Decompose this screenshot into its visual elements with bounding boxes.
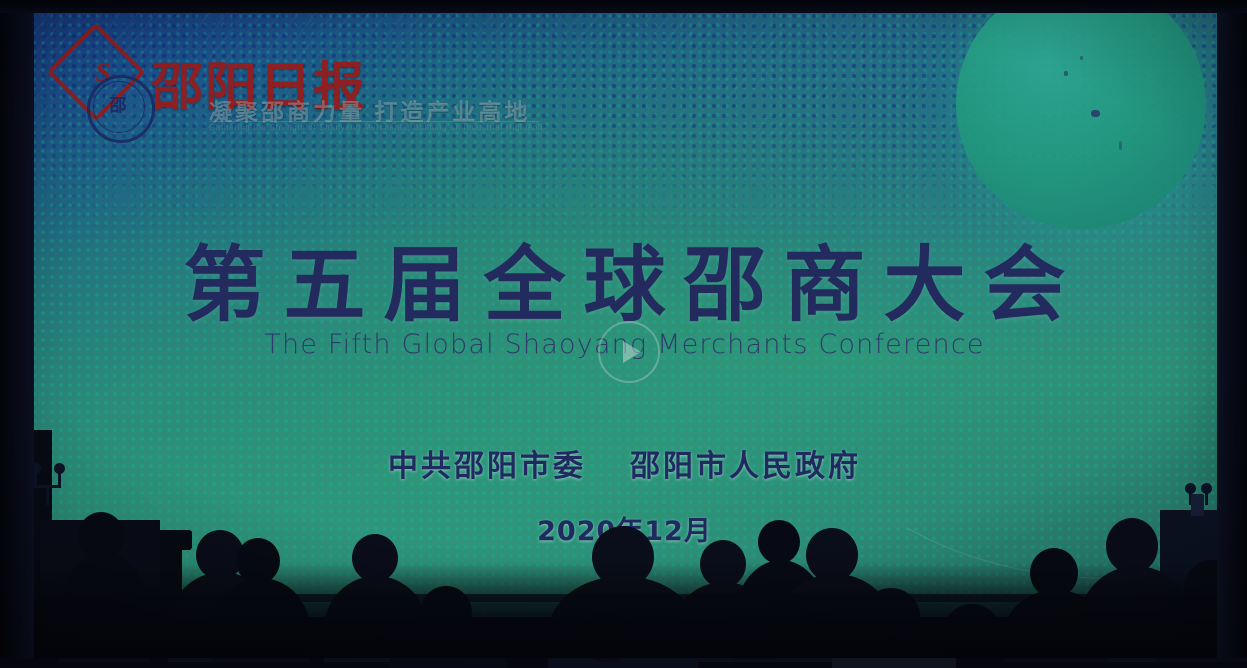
organizer-left: 中共邵阳市委	[388, 449, 586, 484]
slide-main-title: 第五届全球邵商大会	[31, 218, 1218, 337]
slide-text-block: 第五届全球邵商大会 The Fifth Global Shaoyang Merc…	[31, 13, 1218, 617]
play-icon	[623, 341, 641, 363]
led-stage-screen: S 邵 邵阳日报 凝聚邵商力量 打造产业高地 Gathering the Str…	[31, 13, 1218, 617]
slide-organizers: 中共邵阳市委邵阳市人民政府	[31, 441, 1218, 485]
video-play-button[interactable]	[598, 321, 660, 383]
organizer-right: 邵阳市人民政府	[630, 449, 861, 484]
slide-event-date: 2020年12月	[31, 509, 1218, 548]
